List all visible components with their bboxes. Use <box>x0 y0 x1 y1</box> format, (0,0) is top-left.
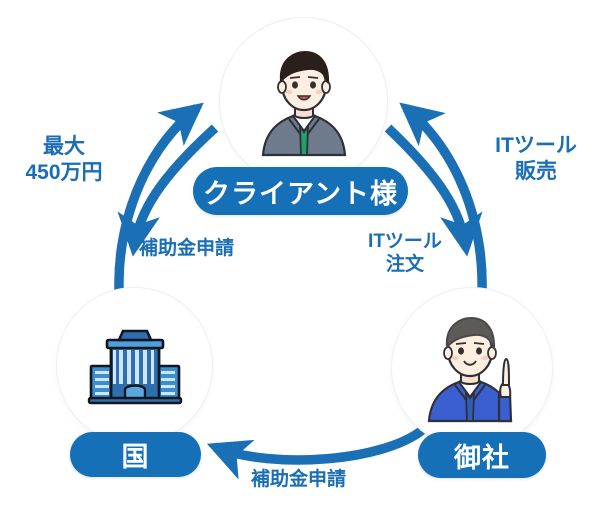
edge-label-subsidy-to-client: 補助金申請 <box>139 237 234 260</box>
arrow-subsidy-application <box>215 426 427 460</box>
node-country-label-text: 国 <box>122 435 150 474</box>
edge-label-it-tool-order-line2: 注文 <box>357 253 453 276</box>
node-client-label-text: クライアント様 <box>203 172 398 211</box>
node-client-label[interactable]: クライアント様 <box>193 167 408 215</box>
edge-label-subsidy-amount: 最大 450万円 <box>12 134 116 185</box>
edge-label-subsidy-to-client-line1: 補助金申請 <box>139 237 234 260</box>
edge-label-it-tool-sales-line2: 販売 <box>484 159 588 185</box>
edge-label-it-tool-order-line1: ITツール <box>357 230 453 253</box>
node-company-label[interactable]: 御社 <box>418 432 546 478</box>
node-company-label-text: 御社 <box>454 436 510 475</box>
edge-label-subsidy-amount-line2: 450万円 <box>12 160 116 186</box>
edge-label-subsidy-amount-line1: 最大 <box>12 134 116 160</box>
node-country-label[interactable]: 国 <box>70 432 201 477</box>
businessman-gray-suit-avatar <box>245 43 363 161</box>
edge-label-subsidy-application-line1: 補助金申請 <box>251 468 346 491</box>
flow-diagram: クライアント様 <box>0 0 600 523</box>
node-country-circle <box>57 288 212 443</box>
edge-label-it-tool-sales-line1: ITツール <box>484 133 588 159</box>
edge-label-it-tool-order: ITツール 注文 <box>357 230 453 276</box>
businessman-blue-suit-pointing-avatar <box>413 309 531 427</box>
edge-label-subsidy-application: 補助金申請 <box>251 468 346 491</box>
node-client-circle <box>220 18 387 185</box>
government-building-icon <box>87 326 183 406</box>
node-company-circle <box>392 288 552 448</box>
edge-label-it-tool-sales: ITツール 販売 <box>484 133 588 184</box>
